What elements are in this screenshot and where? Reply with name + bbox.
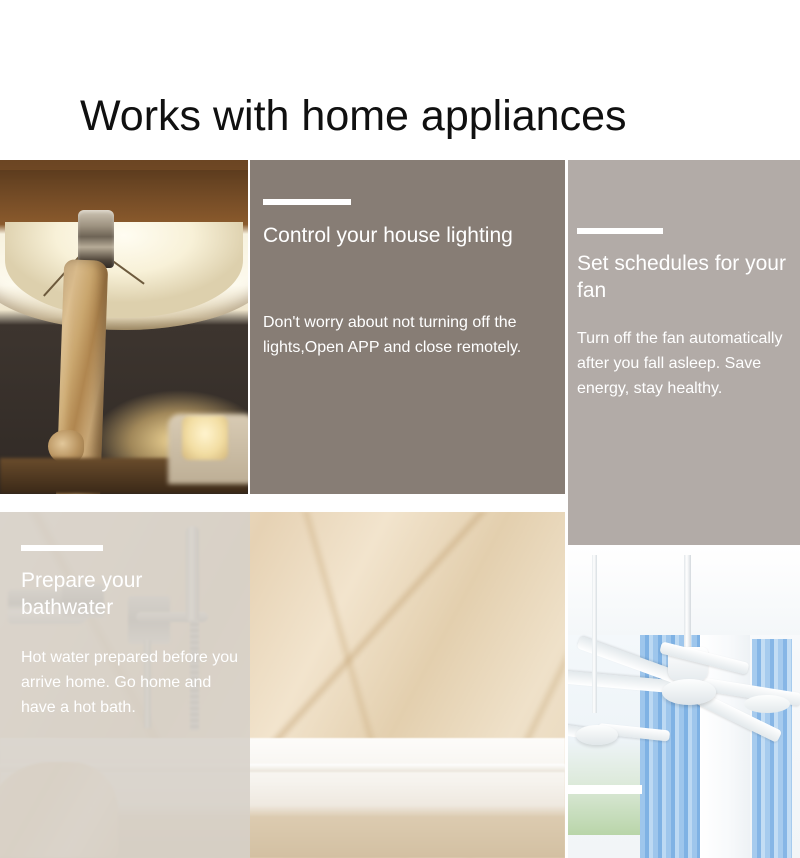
second-fan-downrod-decor — [592, 555, 597, 713]
lighting-heading: Control your house lighting — [263, 222, 513, 249]
fan-text-panel: Set schedules for your fan Turn off the … — [568, 160, 800, 545]
fan-heading: Set schedules for your fan — [577, 250, 792, 304]
blue-curtain-right-decor — [752, 639, 792, 858]
lamp-photo-image — [0, 160, 248, 494]
bathwater-heading: Prepare your bathwater — [21, 567, 233, 621]
lighting-body: Don't worry about not turning off the li… — [263, 310, 531, 360]
lighting-text-panel: Control your house lighting Don't worry … — [250, 160, 565, 494]
ceiling-fan-photo-image — [568, 547, 800, 858]
accent-bar-bathwater — [21, 545, 103, 551]
lamp-photo — [0, 160, 248, 494]
bathwater-text-overlay: Prepare your bathwater Hot water prepare… — [0, 512, 250, 858]
background-lamp-decor — [182, 416, 228, 460]
accent-bar-fan — [577, 228, 663, 234]
promo-page: Works with home appliances Control your … — [0, 0, 800, 858]
fan-hub-decor — [662, 679, 716, 705]
second-fan-hub-decor — [576, 725, 618, 745]
bathwater-body: Hot water prepared before you arrive hom… — [21, 645, 243, 720]
page-title: Works with home appliances — [80, 90, 627, 142]
fan-body: Turn off the fan automatically after you… — [577, 326, 799, 401]
accent-bar-lighting — [263, 199, 351, 205]
bathtub-photo: Prepare your bathwater Hot water prepare… — [0, 512, 565, 858]
ceiling-fan-photo — [568, 547, 800, 858]
fan-downrod-decor — [684, 555, 691, 653]
window-frame-decor — [568, 785, 642, 794]
third-fan-hub-decor — [744, 695, 790, 713]
